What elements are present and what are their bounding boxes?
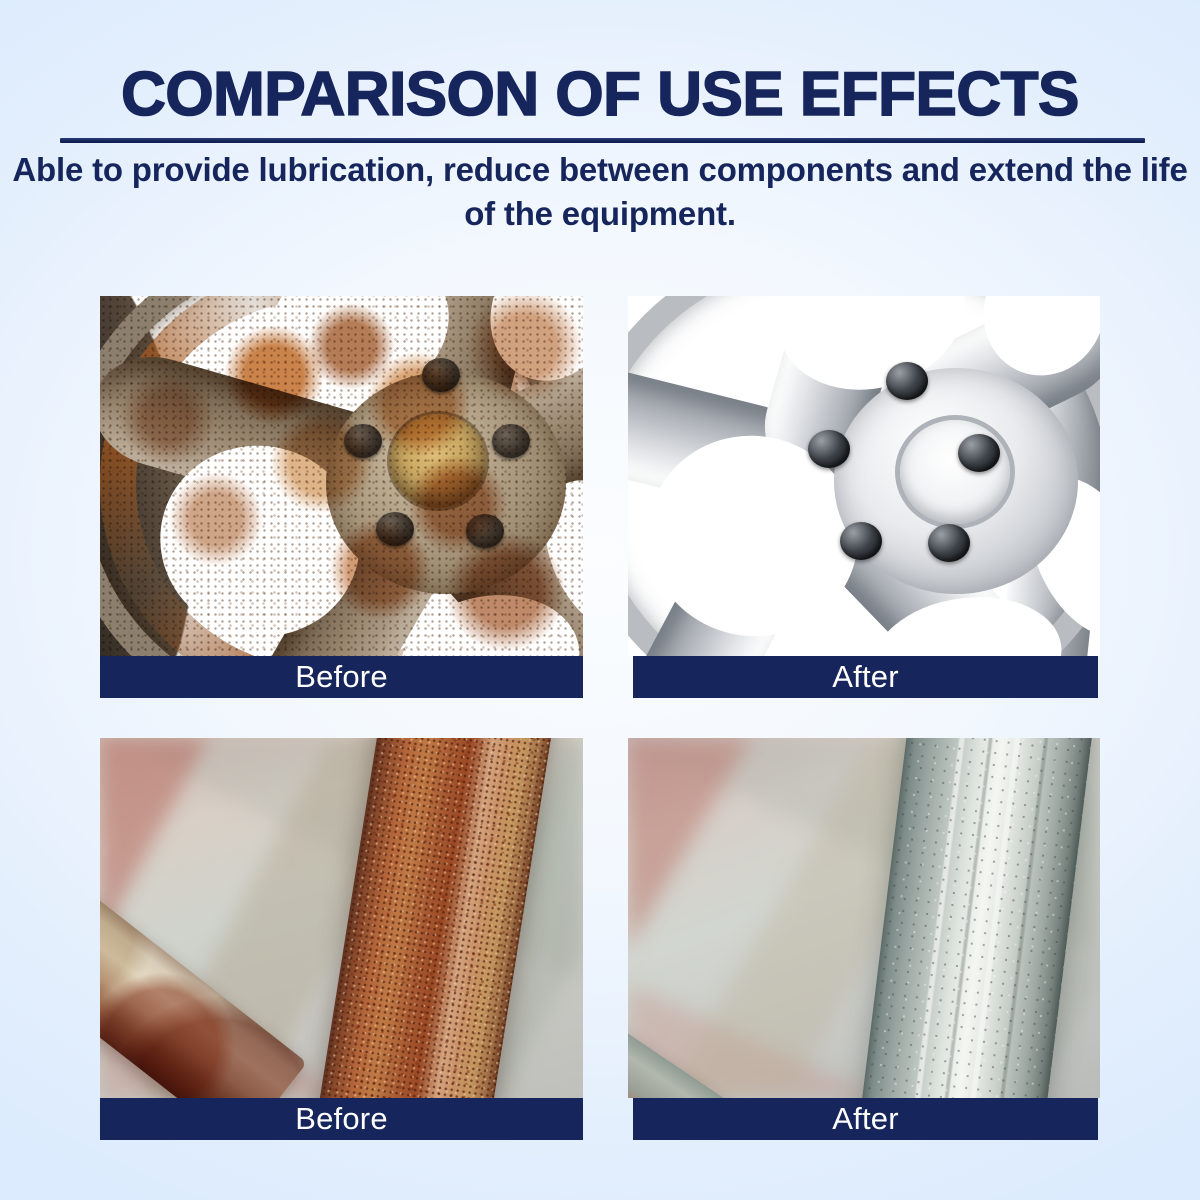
- photo-pipe-before: [100, 738, 583, 1098]
- caption-before: Before: [100, 656, 583, 698]
- comparison-row-wheel: Before: [100, 296, 1100, 738]
- comparison-panel-wheel-after: After: [628, 296, 1100, 698]
- caption-after: After: [633, 1098, 1098, 1140]
- comparison-panel-pipe-after: After: [628, 738, 1100, 1140]
- lug-nut: [840, 522, 882, 560]
- lug-nut: [808, 430, 850, 468]
- clean-galvanised-pipe-image: [628, 738, 1100, 1098]
- wheel-center-cap: [900, 420, 1010, 524]
- comparison-grid: Before: [100, 296, 1100, 1180]
- photo-pipe-after: [628, 738, 1100, 1098]
- wheel-center-cap: [390, 414, 486, 508]
- comparison-panel-pipe-before: Before: [100, 738, 583, 1140]
- page-title: COMPARISON OF USE EFFECTS: [0, 0, 1200, 126]
- comparison-row-pipe: Before After: [100, 738, 1100, 1180]
- comparison-panel-wheel-before: Before: [100, 296, 583, 698]
- product-comparison-page: COMPARISON OF USE EFFECTS Able to provid…: [0, 0, 1200, 1200]
- photo-wheel-after: [628, 296, 1100, 656]
- lug-nut: [958, 434, 1000, 472]
- clean-alloy-wheel-image: [628, 296, 1100, 656]
- photo-wheel-before: [100, 296, 583, 656]
- lug-nut: [344, 424, 382, 458]
- header: COMPARISON OF USE EFFECTS Able to provid…: [0, 0, 1200, 235]
- lug-nut: [376, 512, 414, 546]
- title-divider: [60, 138, 1145, 143]
- caption-before: Before: [100, 1098, 583, 1140]
- caption-after: After: [633, 656, 1098, 698]
- lug-nut: [928, 524, 970, 562]
- lug-nut: [492, 424, 530, 458]
- rusty-alloy-wheel-image: [100, 296, 583, 656]
- rusty-steel-pipe-image: [100, 738, 583, 1098]
- lug-nut: [466, 514, 504, 548]
- lug-nut: [886, 362, 928, 400]
- lug-nut: [422, 358, 460, 392]
